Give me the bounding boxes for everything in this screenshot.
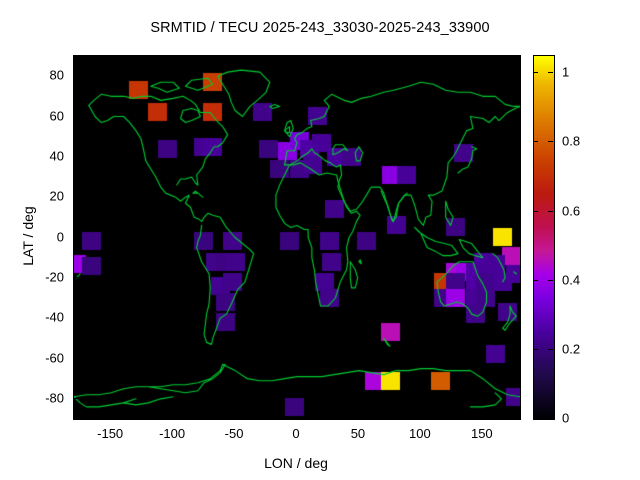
x-tick-label: 150 [471, 426, 493, 441]
y-tick-mark [73, 75, 78, 76]
y-tick-label: 20 [20, 189, 64, 204]
y-tick-mark [73, 196, 78, 197]
colorbar-tick-label: 0.6 [562, 203, 580, 218]
y-tick-mark [73, 237, 78, 238]
colorbar-tick-mark [533, 418, 538, 419]
colorbar-gradient [534, 56, 554, 419]
chart-title: SRMTID / TECU 2025-243_33030-2025-243_33… [0, 20, 640, 36]
y-tick-label: 0 [20, 229, 64, 244]
y-tick-label: -20 [20, 269, 64, 284]
colorbar-tick-mark [533, 141, 538, 142]
x-tick-label: -100 [159, 426, 185, 441]
colorbar-tick-label: 1 [562, 65, 569, 80]
y-tick-label: 60 [20, 108, 64, 123]
figure-root: SRMTID / TECU 2025-243_33030-2025-243_33… [0, 0, 640, 480]
colorbar-tick-mark [548, 418, 553, 419]
x-tick-label: -150 [97, 426, 123, 441]
y-tick-label: 80 [20, 68, 64, 83]
y-tick-label: -80 [20, 390, 64, 405]
world-map-heatmap-canvas [74, 56, 520, 419]
map-plot-area [73, 55, 521, 420]
y-tick-mark [73, 398, 78, 399]
colorbar [533, 55, 555, 420]
colorbar-tick-mark [533, 72, 538, 73]
y-tick-mark [73, 156, 78, 157]
x-tick-label: 0 [292, 426, 299, 441]
colorbar-tick-mark [548, 72, 553, 73]
y-tick-label: 40 [20, 148, 64, 163]
y-tick-label: -60 [20, 350, 64, 365]
colorbar-tick-label: 0 [562, 411, 569, 426]
y-tick-mark [73, 116, 78, 117]
colorbar-tick-mark [548, 211, 553, 212]
y-tick-label: -40 [20, 310, 64, 325]
x-tick-label: 100 [409, 426, 431, 441]
colorbar-tick-mark [548, 349, 553, 350]
colorbar-tick-mark [533, 211, 538, 212]
y-tick-mark [73, 358, 78, 359]
colorbar-tick-label: 0.8 [562, 134, 580, 149]
x-tick-label: 50 [351, 426, 365, 441]
x-axis-label: LON / deg [73, 455, 519, 471]
colorbar-tick-mark [548, 141, 553, 142]
colorbar-tick-mark [548, 280, 553, 281]
colorbar-tick-mark [533, 349, 538, 350]
colorbar-tick-label: 0.4 [562, 272, 580, 287]
y-tick-mark [73, 277, 78, 278]
colorbar-tick-label: 0.2 [562, 341, 580, 356]
colorbar-tick-mark [533, 280, 538, 281]
x-tick-label: -50 [225, 426, 244, 441]
y-tick-mark [73, 317, 78, 318]
